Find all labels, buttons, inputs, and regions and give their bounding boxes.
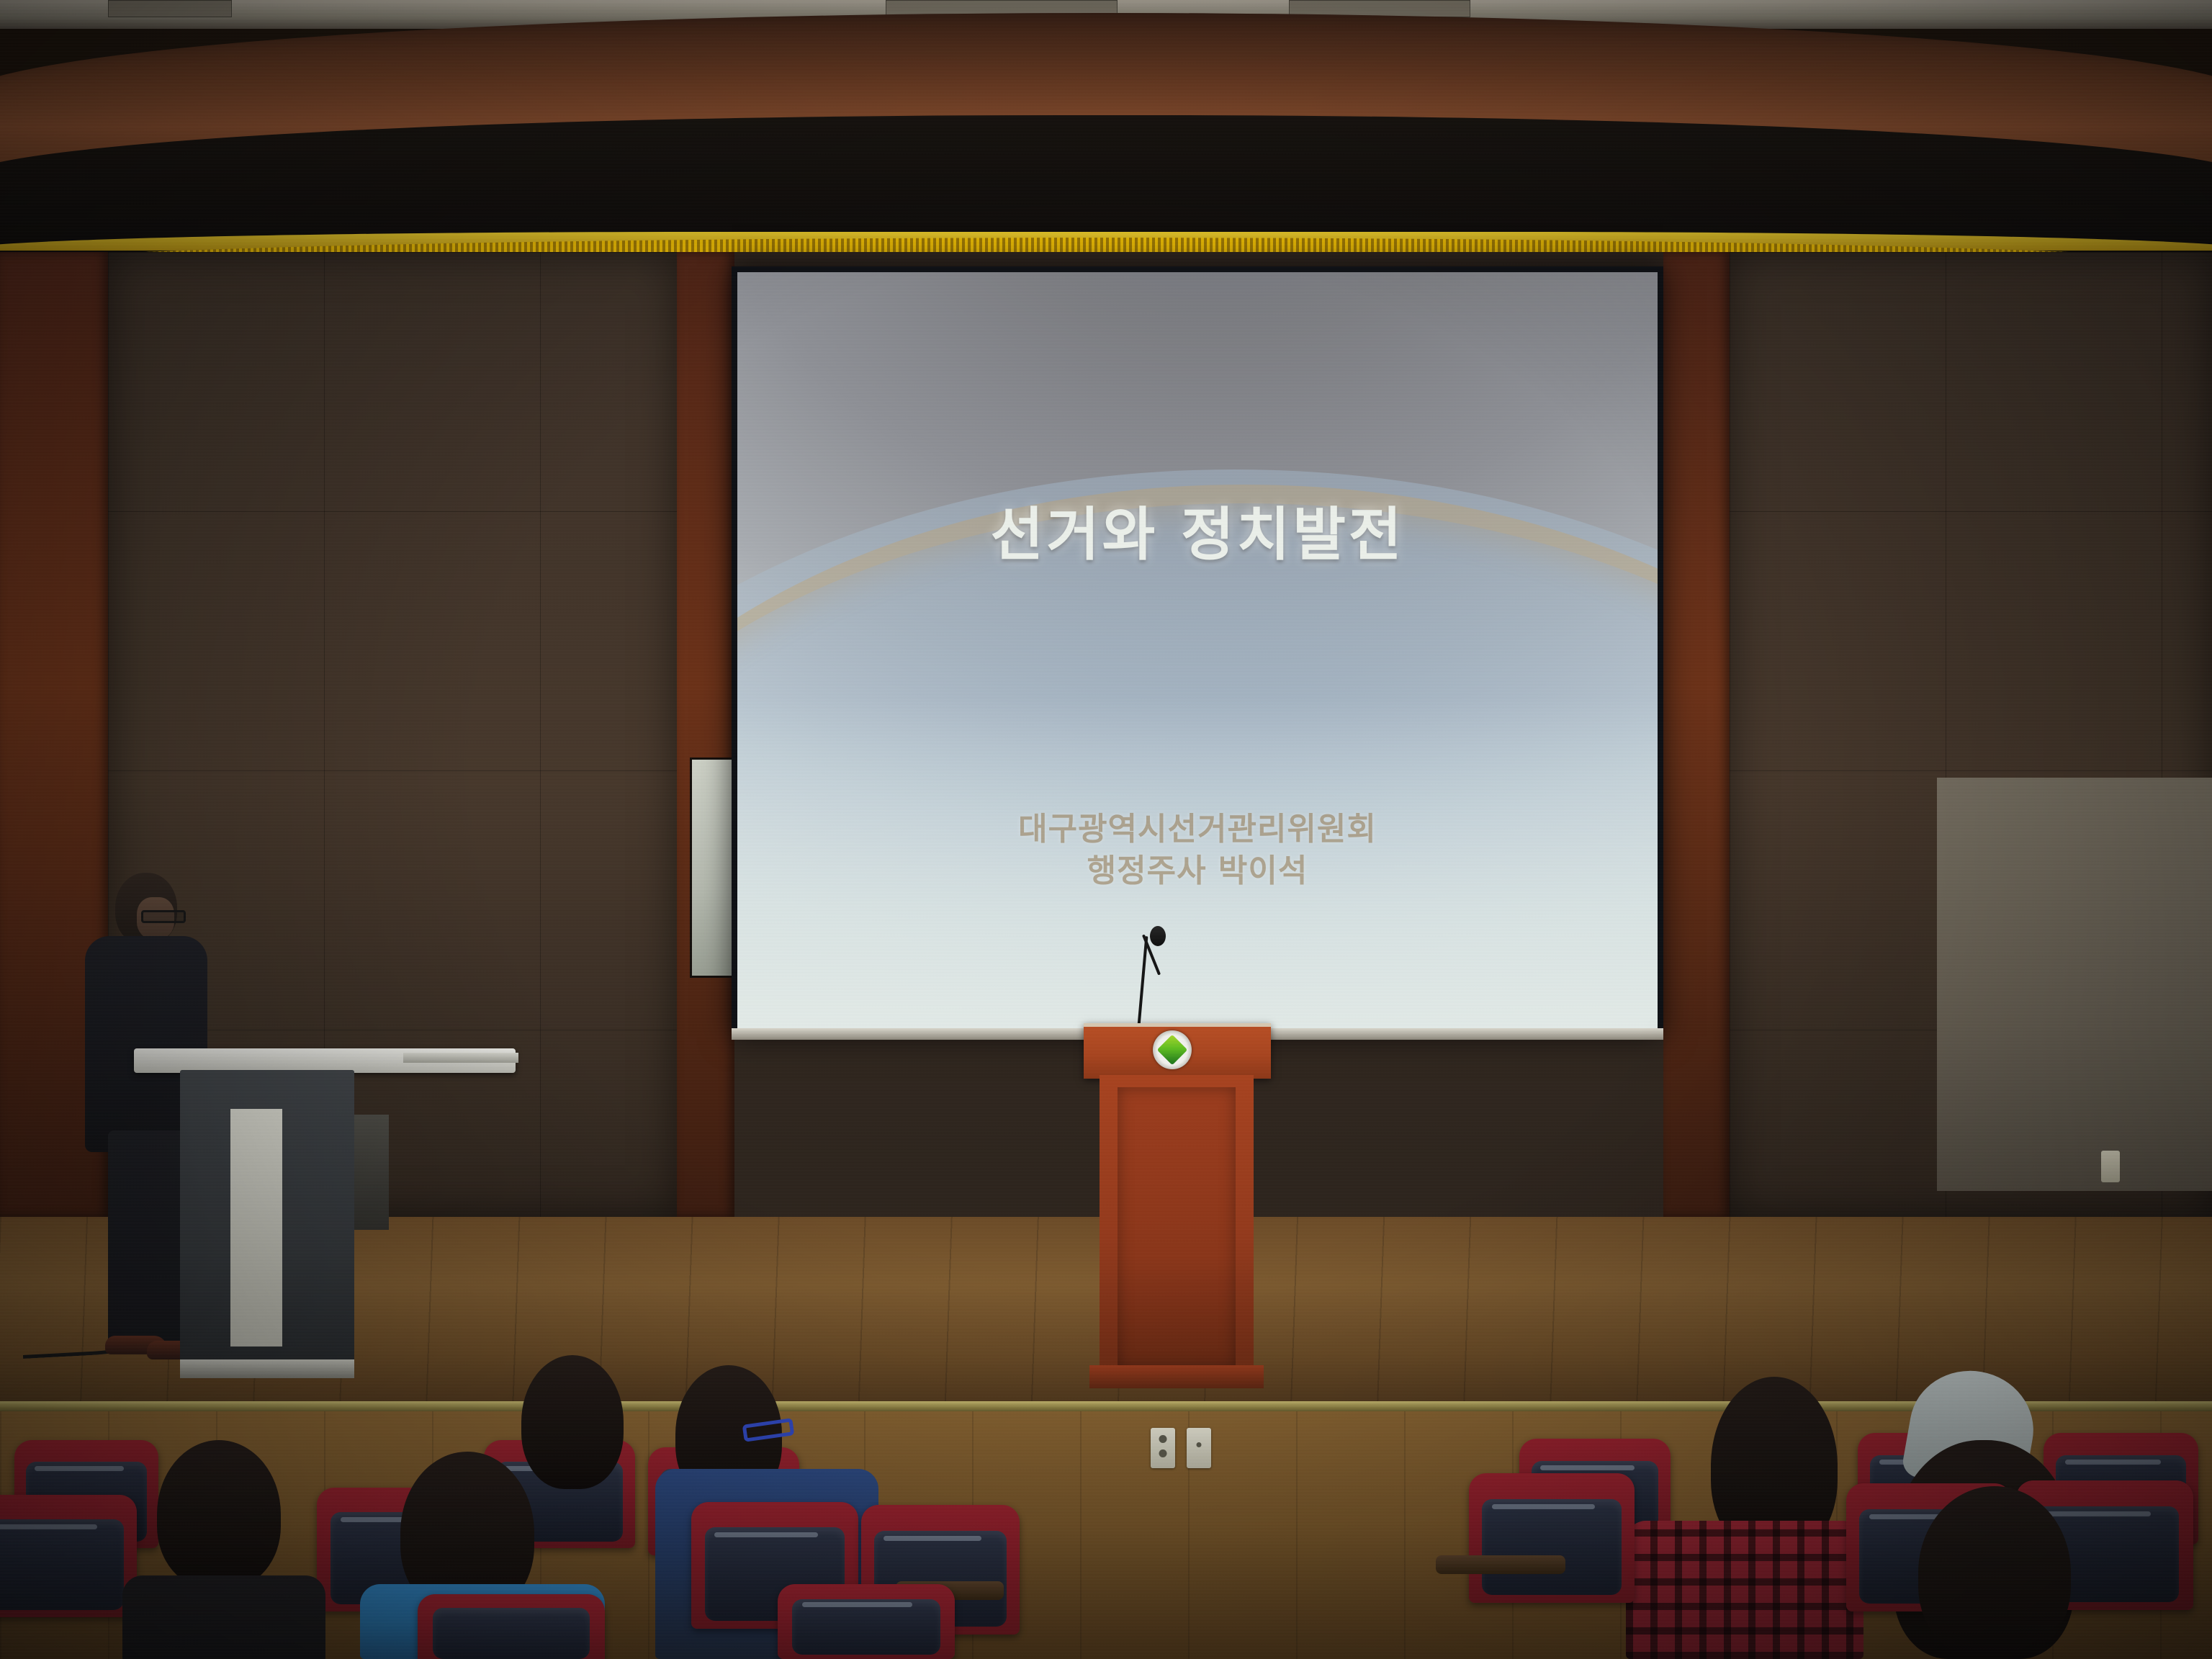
seat-mid-5[interactable] xyxy=(1469,1473,1635,1603)
seat-armrest-right xyxy=(1436,1555,1565,1574)
outlet-hole-upper xyxy=(1159,1435,1167,1443)
seat-mid-1[interactable] xyxy=(0,1495,137,1617)
seat-front-2[interactable] xyxy=(778,1584,955,1659)
election-commission-emblem-icon xyxy=(1153,1030,1192,1069)
lectern-surface-extension xyxy=(403,1053,518,1063)
slide-subtitle-block: 대구광역시선거관리위원회 행정주사 박이석 xyxy=(737,809,1658,892)
projection-screen-frame: 선거와 정치발전 대구광역시선거관리위원회 행정주사 박이석 xyxy=(732,266,1663,1037)
wall-pillar-right-of-screen xyxy=(1663,252,1730,1217)
glasses-icon xyxy=(141,910,186,923)
attendee-hair xyxy=(1918,1486,2071,1659)
slide-subtitle-line-2: 행정주사 박이석 xyxy=(737,850,1658,892)
attendee-top xyxy=(122,1575,325,1659)
outlet-hole-lower xyxy=(1159,1449,1167,1457)
emblem-diamond xyxy=(1157,1035,1187,1065)
whiteboard-panel-left xyxy=(690,757,734,978)
seat-front-1[interactable] xyxy=(418,1594,605,1659)
auditorium-scene: 선거와 정치발전 대구광역시선거관리위원회 행정주사 박이석 xyxy=(0,0,2212,1659)
stage-outlet-plate xyxy=(1151,1428,1175,1468)
wall-pillar-left-of-screen xyxy=(677,252,734,1217)
blank-plate-screw xyxy=(1197,1442,1202,1447)
podium-base xyxy=(1089,1365,1264,1388)
right-wall-surface xyxy=(1937,778,2212,1191)
lectern-side-box xyxy=(354,1115,389,1230)
lectern-front-panel xyxy=(230,1109,282,1346)
microphone-icon xyxy=(1150,926,1166,946)
attendee-hair xyxy=(521,1355,624,1489)
projection-screen: 선거와 정치발전 대구광역시선거관리위원회 행정주사 박이석 xyxy=(737,272,1658,1031)
attendee-hair xyxy=(157,1440,281,1588)
lectern-base xyxy=(180,1359,354,1378)
stage-blank-plate xyxy=(1187,1428,1211,1468)
attendee-plaid-top xyxy=(1626,1521,1863,1659)
ceiling-vent-left xyxy=(108,0,232,17)
podium-front-inset xyxy=(1118,1087,1236,1368)
slide-subtitle-line-1: 대구광역시선거관리위원회 xyxy=(737,809,1658,850)
wall-outlet-icon xyxy=(2101,1151,2120,1182)
slide-title: 선거와 정치발전 xyxy=(737,488,1658,572)
presenter-head xyxy=(115,873,177,945)
